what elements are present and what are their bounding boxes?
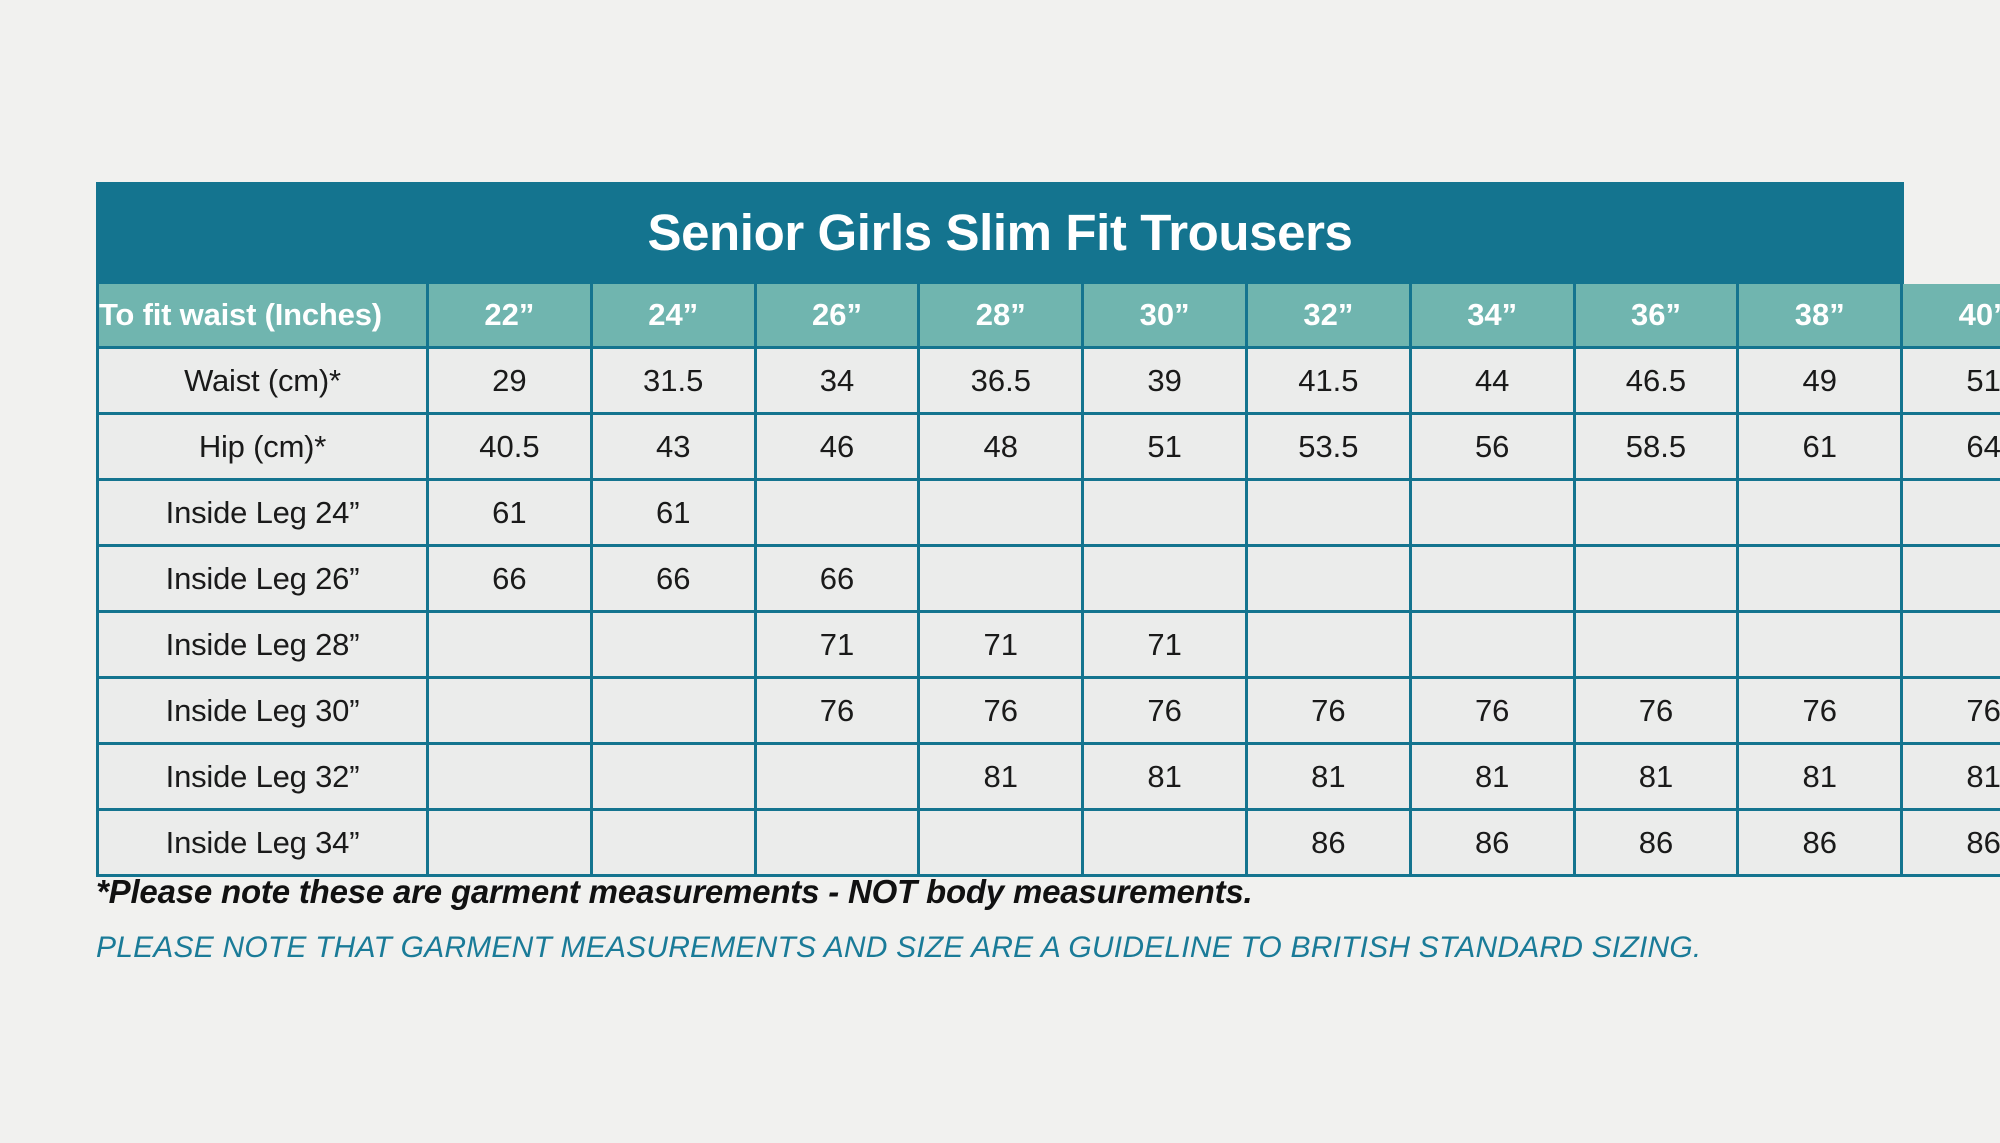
data-cell xyxy=(593,613,757,679)
data-cell: 58.5 xyxy=(1576,415,1740,481)
column-header-size-5: 30” xyxy=(1084,284,1248,349)
table-body: Waist (cm)*2931.53436.53941.54446.54951H… xyxy=(96,349,2000,877)
data-cell: 46.5 xyxy=(1576,349,1740,415)
data-cell xyxy=(1903,481,2000,547)
data-cell: 31.5 xyxy=(593,349,757,415)
data-cell: 86 xyxy=(1248,811,1412,877)
row-label: Inside Leg 32” xyxy=(96,745,429,811)
data-cell xyxy=(920,547,1084,613)
data-cell: 29 xyxy=(429,349,593,415)
data-cell xyxy=(1248,547,1412,613)
data-cell: 48 xyxy=(920,415,1084,481)
size-chart-table: To fit waist (Inches)22”24”26”28”30”32”3… xyxy=(96,284,2000,877)
column-header-size-7: 34” xyxy=(1412,284,1576,349)
table-row: Inside Leg 28”717171 xyxy=(96,613,2000,679)
data-cell: 76 xyxy=(920,679,1084,745)
data-cell: 39 xyxy=(1084,349,1248,415)
data-cell: 49 xyxy=(1739,349,1903,415)
data-cell: 81 xyxy=(1576,745,1740,811)
data-cell xyxy=(429,811,593,877)
data-cell xyxy=(1903,613,2000,679)
column-header-size-1: 22” xyxy=(429,284,593,349)
table-row: Inside Leg 24”6161 xyxy=(96,481,2000,547)
data-cell xyxy=(429,679,593,745)
data-cell: 76 xyxy=(757,679,921,745)
row-label: Waist (cm)* xyxy=(96,349,429,415)
data-cell: 76 xyxy=(1084,679,1248,745)
data-cell xyxy=(1576,481,1740,547)
data-cell xyxy=(1084,811,1248,877)
data-cell xyxy=(1412,481,1576,547)
data-cell xyxy=(1739,481,1903,547)
data-cell: 34 xyxy=(757,349,921,415)
table-head: To fit waist (Inches)22”24”26”28”30”32”3… xyxy=(96,284,2000,349)
footnotes: *Please note these are garment measureme… xyxy=(96,872,1906,966)
data-cell: 51 xyxy=(1084,415,1248,481)
row-label: Inside Leg 34” xyxy=(96,811,429,877)
column-header-size-4: 28” xyxy=(920,284,1084,349)
row-label: Inside Leg 28” xyxy=(96,613,429,679)
data-cell: 51 xyxy=(1903,349,2000,415)
column-header-size-8: 36” xyxy=(1576,284,1740,349)
data-cell xyxy=(1576,547,1740,613)
data-cell: 56 xyxy=(1412,415,1576,481)
data-cell: 64 xyxy=(1903,415,2000,481)
data-cell: 81 xyxy=(1412,745,1576,811)
data-cell: 81 xyxy=(1248,745,1412,811)
column-header-size-2: 24” xyxy=(593,284,757,349)
data-cell: 61 xyxy=(593,481,757,547)
data-cell: 81 xyxy=(920,745,1084,811)
column-header-row-label: To fit waist (Inches) xyxy=(96,284,429,349)
data-cell: 86 xyxy=(1576,811,1740,877)
data-cell: 81 xyxy=(1084,745,1248,811)
chart-title: Senior Girls Slim Fit Trousers xyxy=(96,182,1904,284)
data-cell: 53.5 xyxy=(1248,415,1412,481)
data-cell: 86 xyxy=(1739,811,1903,877)
table-row: Hip (cm)*40.54346485153.55658.56164 xyxy=(96,415,2000,481)
column-header-size-6: 32” xyxy=(1248,284,1412,349)
data-cell: 81 xyxy=(1903,745,2000,811)
row-label: Inside Leg 24” xyxy=(96,481,429,547)
data-cell: 44 xyxy=(1412,349,1576,415)
row-label: Hip (cm)* xyxy=(96,415,429,481)
data-cell: 71 xyxy=(920,613,1084,679)
table-row: Inside Leg 26”666666 xyxy=(96,547,2000,613)
data-cell: 46 xyxy=(757,415,921,481)
data-cell: 43 xyxy=(593,415,757,481)
data-cell: 76 xyxy=(1248,679,1412,745)
data-cell xyxy=(920,481,1084,547)
row-label: Inside Leg 30” xyxy=(96,679,429,745)
data-cell xyxy=(920,811,1084,877)
data-cell: 86 xyxy=(1412,811,1576,877)
data-cell xyxy=(593,745,757,811)
data-cell xyxy=(1739,613,1903,679)
data-cell: 40.5 xyxy=(429,415,593,481)
data-cell: 66 xyxy=(757,547,921,613)
data-cell: 86 xyxy=(1903,811,2000,877)
table-row: Inside Leg 32”81818181818181 xyxy=(96,745,2000,811)
note-garment-measurements: *Please note these are garment measureme… xyxy=(96,872,1906,913)
data-cell xyxy=(1903,547,2000,613)
data-cell: 76 xyxy=(1576,679,1740,745)
data-cell xyxy=(1412,547,1576,613)
data-cell xyxy=(593,679,757,745)
data-cell: 76 xyxy=(1903,679,2000,745)
data-cell: 61 xyxy=(429,481,593,547)
data-cell xyxy=(1084,547,1248,613)
data-cell xyxy=(757,811,921,877)
data-cell: 81 xyxy=(1739,745,1903,811)
data-cell xyxy=(1248,613,1412,679)
size-chart: Senior Girls Slim Fit Trousers To fit wa… xyxy=(96,182,1904,877)
data-cell xyxy=(593,811,757,877)
data-cell: 66 xyxy=(593,547,757,613)
column-header-size-9: 38” xyxy=(1739,284,1903,349)
data-cell: 71 xyxy=(757,613,921,679)
note-british-standard-sizing: PLEASE NOTE THAT GARMENT MEASUREMENTS AN… xyxy=(96,929,1906,966)
table-row: Waist (cm)*2931.53436.53941.54446.54951 xyxy=(96,349,2000,415)
data-cell xyxy=(1576,613,1740,679)
data-cell xyxy=(429,745,593,811)
column-header-size-3: 26” xyxy=(757,284,921,349)
data-cell xyxy=(1412,613,1576,679)
table-header-row: To fit waist (Inches)22”24”26”28”30”32”3… xyxy=(96,284,2000,349)
data-cell: 76 xyxy=(1739,679,1903,745)
data-cell: 71 xyxy=(1084,613,1248,679)
data-cell: 61 xyxy=(1739,415,1903,481)
data-cell xyxy=(757,745,921,811)
data-cell xyxy=(1248,481,1412,547)
data-cell: 36.5 xyxy=(920,349,1084,415)
data-cell: 66 xyxy=(429,547,593,613)
page-canvas: Senior Girls Slim Fit Trousers To fit wa… xyxy=(0,0,2000,1143)
column-header-size-10: 40” xyxy=(1903,284,2000,349)
row-label: Inside Leg 26” xyxy=(96,547,429,613)
data-cell xyxy=(1739,547,1903,613)
table-row: Inside Leg 34”8686868686 xyxy=(96,811,2000,877)
data-cell xyxy=(757,481,921,547)
data-cell xyxy=(429,613,593,679)
data-cell: 41.5 xyxy=(1248,349,1412,415)
data-cell xyxy=(1084,481,1248,547)
data-cell: 76 xyxy=(1412,679,1576,745)
table-row: Inside Leg 30”7676767676767676 xyxy=(96,679,2000,745)
